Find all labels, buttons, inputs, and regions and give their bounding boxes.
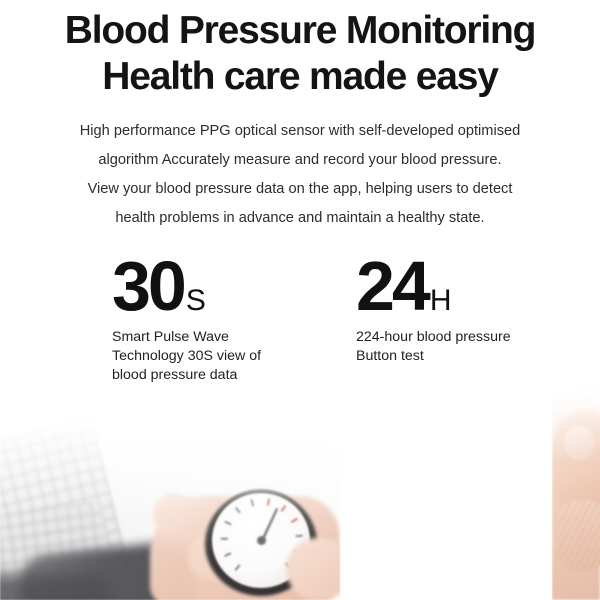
stat-desc-line-1: Smart Pulse Wave [112,328,297,347]
stat-desc-line-3: blood pressure data [112,366,297,385]
photo-finger-holding-phone [552,388,600,600]
stat-desc-line-1: 224-hour blood pressure [356,328,556,347]
stat-pulse-wave: 30 S Smart Pulse Wave Technology 30S vie… [112,252,297,385]
promo-page: Blood Pressure Monitoring Health care ma… [0,0,600,600]
headline-line-2: Health care made easy [0,54,600,100]
product-photo-band: 14:33 HR BP [0,388,600,600]
photo-right-white-fade-overlay [552,388,600,600]
stat-desc-line-2: Technology 30S view of [112,347,297,366]
gauge-hub [257,536,266,545]
description-line-2: algorithm Accurately measure and record … [22,146,578,175]
stat-value: 24 [356,252,428,320]
stat-value-group: 30 S [112,252,297,320]
stat-description: 224-hour blood pressure Button test [356,328,556,366]
stat-unit: S [186,286,206,316]
stat-description: Smart Pulse Wave Technology 30S view of … [112,328,297,385]
description-line-1: High performance PPG optical sensor with… [22,117,578,146]
stat-value-group: 24 H [356,252,556,320]
stat-desc-line-2: Button test [356,347,556,366]
headline-line-1: Blood Pressure Monitoring [0,8,600,54]
stat-24h-monitoring: 24 H 224-hour blood pressure Button test [356,252,556,366]
description-line-3: View your blood pressure data on the app… [22,175,578,204]
stat-value: 30 [112,252,184,320]
page-title: Blood Pressure Monitoring Health care ma… [0,8,600,100]
dark-clothing-mass-2 [0,574,110,600]
description-line-4: health problems in advance and maintain … [22,204,578,233]
stat-unit: H [430,286,452,316]
stats-section: 30 S Smart Pulse Wave Technology 30S vie… [0,252,600,387]
description-paragraph: High performance PPG optical sensor with… [22,117,578,233]
photo-hand-with-sphygmomanometer [0,388,340,600]
thumb [286,538,340,600]
